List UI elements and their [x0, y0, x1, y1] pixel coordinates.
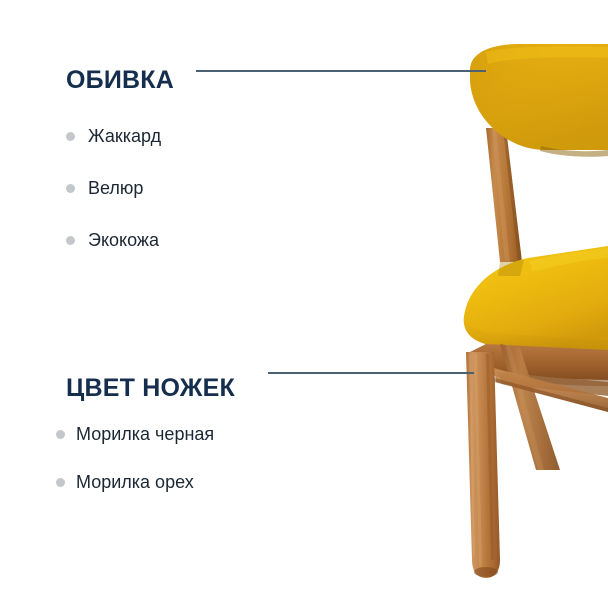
option-item-velour[interactable]: Велюр: [0, 162, 161, 214]
option-label: Морилка черная: [76, 423, 214, 445]
chair-back-leg: [486, 128, 522, 262]
option-label: Велюр: [88, 177, 143, 199]
bullet-icon: [66, 132, 75, 141]
option-item-stain-walnut[interactable]: Морилка орех: [0, 458, 214, 506]
chair-seat: [464, 246, 608, 352]
option-label: Морилка орех: [76, 471, 194, 493]
option-item-jacquard[interactable]: Жаккард: [0, 110, 161, 162]
spec-group-header: ЦВЕТ НОЖЕК: [0, 352, 340, 386]
option-label: Жаккард: [88, 125, 161, 147]
spec-group-upholstery: ОБИВКА Жаккард Велюр Экокожа: [0, 44, 340, 78]
product-options-panel: ОБИВКА Жаккард Велюр Экокожа ЦВЕТ НОЖЕК: [0, 0, 608, 608]
chair-stretcher: [470, 344, 608, 396]
spec-group-header: ОБИВКА: [0, 44, 340, 78]
chair-back-leg-lower: [500, 344, 560, 470]
chair-front-leg: [466, 352, 500, 578]
option-item-ecoleather[interactable]: Экокожа: [0, 214, 161, 266]
bullet-icon: [66, 236, 75, 245]
spec-group-title-upholstery: ОБИВКА: [66, 65, 174, 95]
option-list-leg-color: Морилка черная Морилка орех: [0, 410, 214, 506]
bullet-icon: [56, 478, 65, 487]
chair-backrest: [470, 44, 608, 157]
chair-diagonal-stretcher: [494, 368, 608, 412]
spec-group-leg-color: ЦВЕТ НОЖЕК Морилка черная Морилка орех: [0, 352, 340, 386]
bullet-icon: [56, 430, 65, 439]
option-label: Экокожа: [88, 229, 159, 251]
option-item-stain-black[interactable]: Морилка черная: [0, 410, 214, 458]
spec-group-title-leg-color: ЦВЕТ НОЖЕК: [66, 373, 235, 403]
option-list-upholstery: Жаккард Велюр Экокожа: [0, 110, 161, 266]
bullet-icon: [66, 184, 75, 193]
